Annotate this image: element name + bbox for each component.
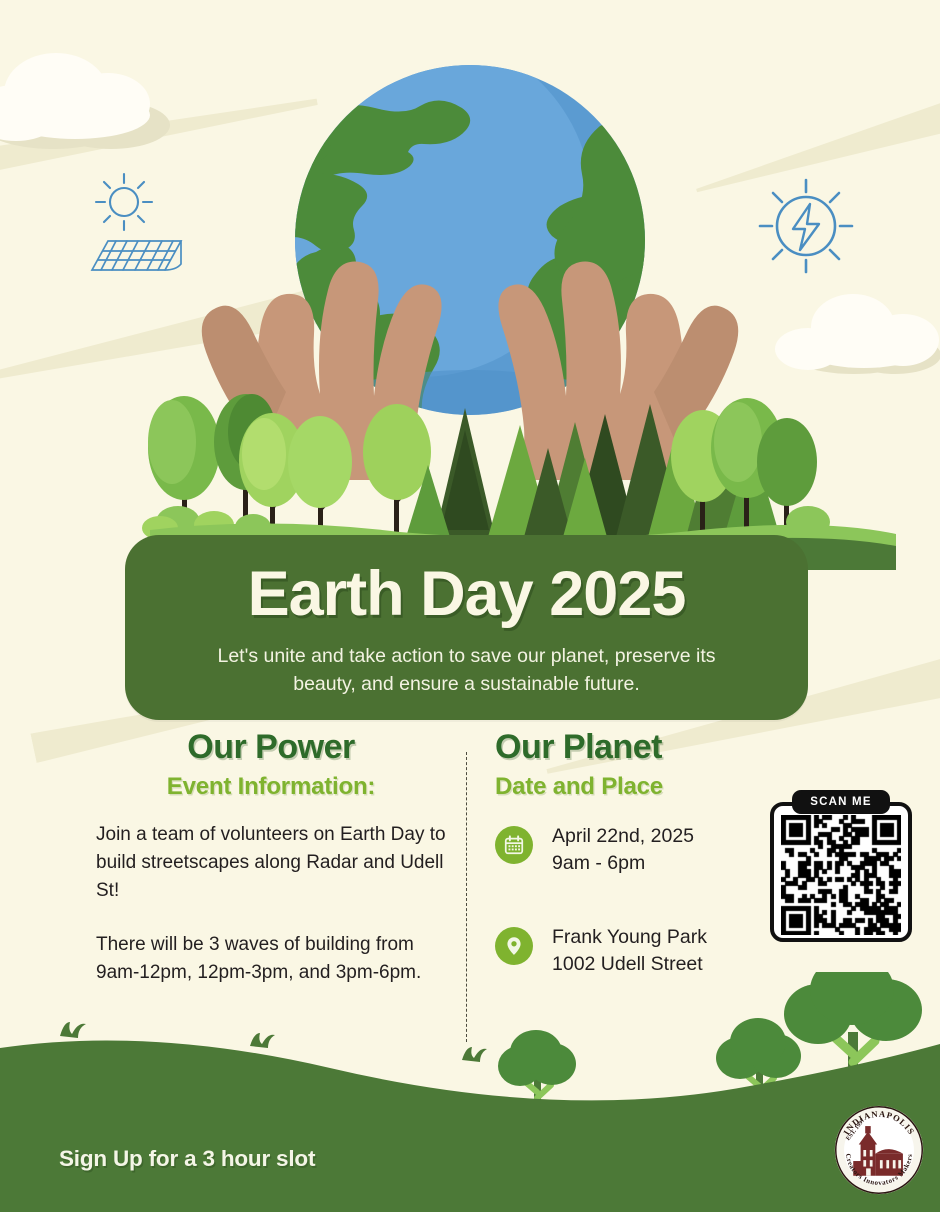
scan-me-label: SCAN ME [792,790,890,814]
our-power-heading: Our Power [96,728,446,766]
date-line-1: April 22nd, 2025 [552,823,694,850]
date-line-2: 9am - 6pm [552,850,694,877]
right-column: Our Planet Date and Place [495,728,785,977]
place-info-row: Frank Young Park 1002 Udell Street [495,924,785,977]
place-line-1: Frank Young Park [552,924,707,951]
qr-matrix [781,815,901,935]
earth-day-poster: Earth Day 2025 Let's unite and take acti… [0,0,940,1212]
indianapolis-logo: INDIANAPOLIS Creators Innovators Makers … [833,1104,925,1196]
bottom-hill [0,972,940,1212]
event-information-body: Join a team of volunteers on Earth Day t… [96,821,446,987]
our-planet-heading: Our Planet [495,728,785,766]
date-info-text: April 22nd, 2025 9am - 6pm [552,823,694,876]
qr-code[interactable]: SCAN ME [770,790,912,942]
event-paragraph-1: Join a team of volunteers on Earth Day t… [96,821,446,905]
event-paragraph-2: There will be 3 waves of building from 9… [96,931,446,987]
date-info-row: April 22nd, 2025 9am - 6pm [495,823,785,876]
page-title: Earth Day 2025 [125,535,808,626]
place-info-text: Frank Young Park 1002 Udell Street [552,924,707,977]
event-information-subheading: Event Information: [96,773,446,801]
tagline: Let's unite and take action to save our … [125,643,808,698]
calendar-icon [495,826,533,864]
location-pin-icon [495,927,533,965]
column-divider [466,752,467,1042]
signup-text: Sign Up for a 3 hour slot [59,1146,315,1172]
title-banner: Earth Day 2025 Let's unite and take acti… [125,535,808,720]
place-line-2: 1002 Udell Street [552,951,707,978]
left-column: Our Power Event Information: Join a team… [96,728,446,987]
date-and-place-subheading: Date and Place [495,773,785,801]
